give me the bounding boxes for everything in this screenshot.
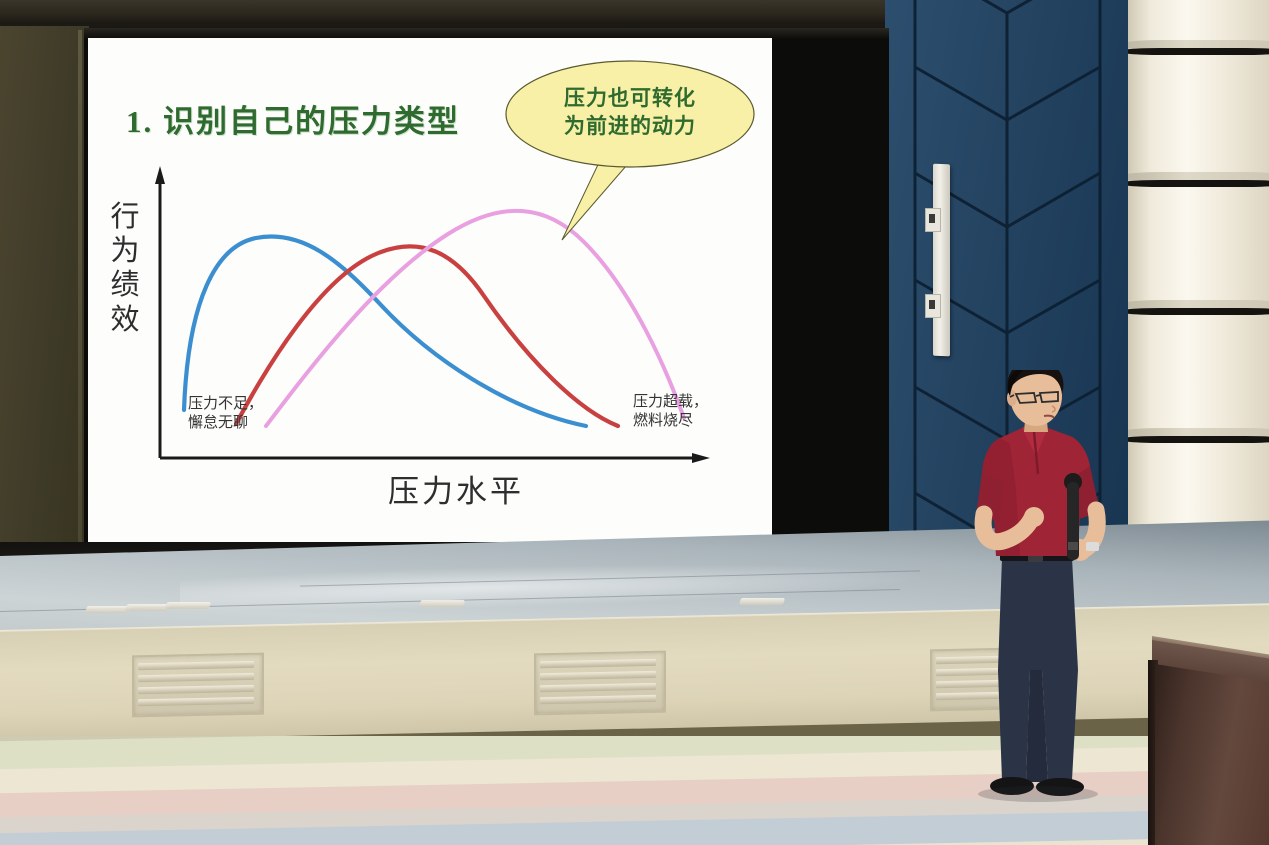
stage-vent <box>534 651 666 716</box>
presenter-shadow <box>978 786 1098 802</box>
stage-vent <box>132 653 264 718</box>
stage-floor-marker <box>165 602 211 609</box>
speech-bubble: 压力也可转化 为前进的动力 <box>505 54 755 186</box>
annotation-low-stress-line2: 懈怠无聊 <box>188 414 263 433</box>
lecture-hall-scene: 1. 识别自己的压力类型 行为绩效 压力水平 压力 <box>0 0 1269 845</box>
speaker-bracket-bottom-screw <box>929 300 935 309</box>
stage-floor-marker <box>419 600 465 607</box>
speech-bubble-line1: 压力也可转化 <box>505 84 755 112</box>
column-band <box>1128 180 1269 187</box>
x-axis-label: 压力水平 <box>388 466 524 511</box>
speaker-bracket-top-screw <box>929 214 935 223</box>
presenter <box>960 370 1130 820</box>
y-axis-label: 行为绩效 <box>102 200 148 337</box>
annotation-overload-line1: 压力超载， <box>633 393 708 412</box>
speech-bubble-text: 压力也可转化 为前进的动力 <box>505 84 755 141</box>
wristwatch <box>1086 542 1099 551</box>
stage-floor-marker <box>739 598 785 605</box>
annotation-low-stress: 压力不足， 懈怠无聊 <box>188 395 263 433</box>
wall-speaker-icon <box>933 164 950 357</box>
speech-bubble-line2: 为前进的动力 <box>505 112 755 140</box>
annotation-low-stress-line1: 压力不足， <box>188 395 263 414</box>
left-wall-edge <box>78 30 82 542</box>
curve-red <box>236 246 618 426</box>
column-band <box>1128 308 1269 315</box>
column-band <box>1128 436 1269 443</box>
column-band <box>1128 48 1269 55</box>
hand-left <box>1024 507 1044 527</box>
projected-slide: 1. 识别自己的压力类型 行为绩效 压力水平 压力 <box>88 38 772 542</box>
presenter-figure <box>960 370 1130 820</box>
annotation-overload-line2: 燃料烧尽 <box>633 412 708 431</box>
table-front-panel <box>1155 664 1269 845</box>
annotation-overload: 压力超载， 燃料烧尽 <box>633 393 708 431</box>
left-wall-panel <box>0 26 89 546</box>
